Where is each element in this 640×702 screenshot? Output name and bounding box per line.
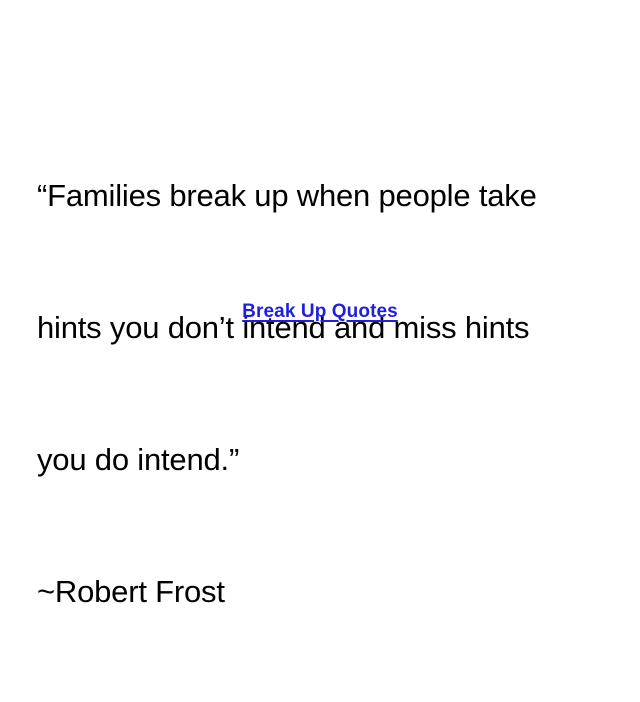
quote-text-block: “Families break up when people take hint… [37, 86, 597, 702]
quote-line-3: you do intend.” [37, 438, 597, 482]
quote-line-1: “Families break up when people take [37, 174, 597, 218]
link-container: Break Up Quotes [0, 301, 640, 323]
break-up-quotes-link[interactable]: Break Up Quotes [242, 301, 398, 323]
quote-attribution: ~Robert Frost [37, 570, 597, 614]
slide-canvas: “Families break up when people take hint… [0, 0, 640, 480]
